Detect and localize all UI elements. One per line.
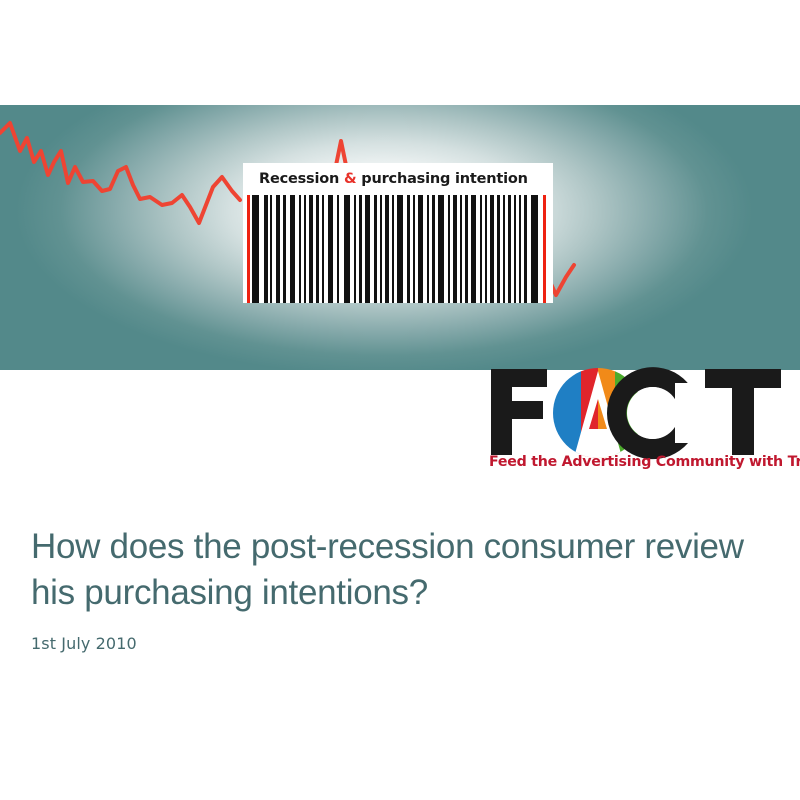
fact-tagline: Feed the Advertising Community with Tren… xyxy=(489,455,793,469)
barcode-title-part-1: Recession xyxy=(259,171,344,187)
logo-letter-t xyxy=(705,369,781,455)
logo-letter-c-mouth xyxy=(675,383,699,443)
fact-logo-mark xyxy=(487,365,793,460)
barcode-title-text: Recession & purchasing intention xyxy=(259,172,528,187)
page-title: How does the post-recession consumer rev… xyxy=(31,524,761,616)
barcode-title-part-2: purchasing intention xyxy=(356,171,527,187)
logo-letter-f xyxy=(491,369,547,455)
recession-banner-image: Recession & purchasing intention xyxy=(0,105,800,370)
barcode-graphic: Recession & purchasing intention xyxy=(243,163,553,303)
slide-date: 1st July 2010 xyxy=(31,636,761,652)
barcode-title-ampersand: & xyxy=(344,171,356,187)
a-segment-blue xyxy=(553,368,581,458)
logo-letter-c-counter xyxy=(627,387,679,439)
declining-trend-line-left xyxy=(0,123,240,223)
title-block: How does the post-recession consumer rev… xyxy=(31,524,761,652)
barcode-title-bar: Recession & purchasing intention xyxy=(243,163,553,195)
fact-logo: Feed the Advertising Community with Tren… xyxy=(487,365,793,477)
a-crossbar-gap xyxy=(582,435,614,444)
